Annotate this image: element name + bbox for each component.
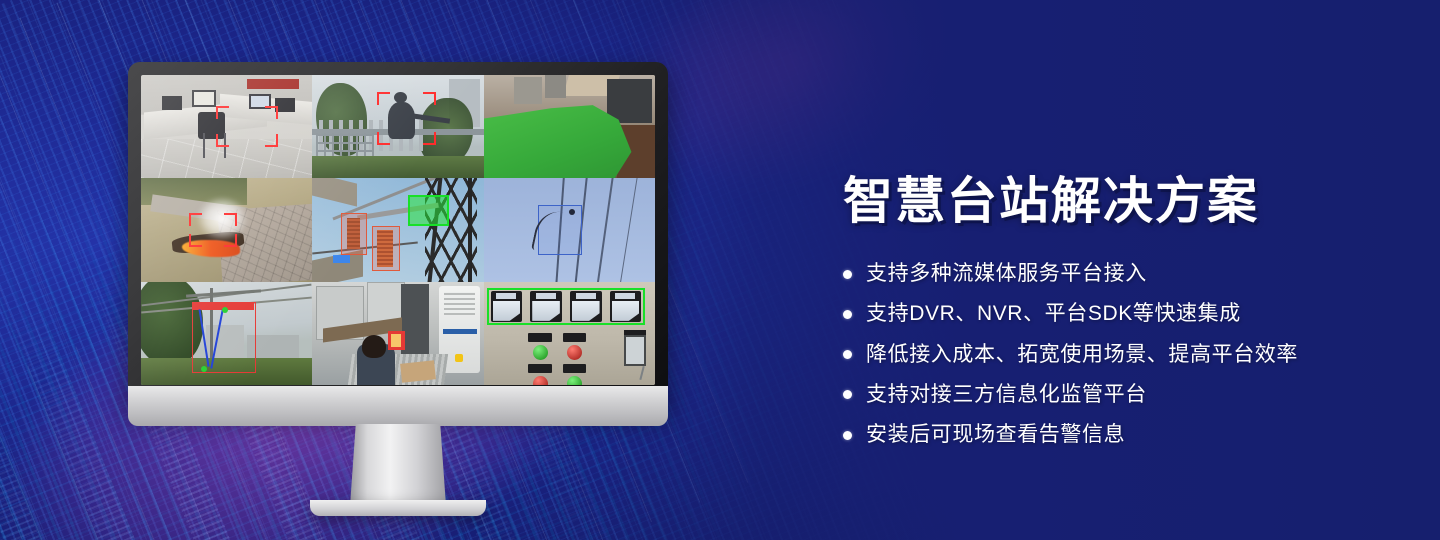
ac-vent bbox=[444, 292, 475, 315]
video-wall-grid bbox=[141, 75, 655, 385]
bullet-icon bbox=[843, 270, 852, 279]
smoke-plume bbox=[189, 178, 268, 246]
screen-1 bbox=[162, 96, 183, 110]
wall-banner bbox=[247, 79, 298, 89]
intruder-figure bbox=[388, 102, 415, 139]
tower-leg-1 bbox=[468, 178, 472, 281]
feature-text: 降低接入成本、拓宽使用场景、提高平台效率 bbox=[866, 342, 1298, 368]
feature-text: 支持对接三方信息化监管平台 bbox=[866, 382, 1147, 408]
video-cell-overhead-lines[interactable] bbox=[484, 178, 655, 281]
feature-text: 支持DVR、NVR、平台SDK等快速集成 bbox=[866, 301, 1241, 327]
feature-list: 支持多种流媒体服务平台接入 支持DVR、NVR、平台SDK等快速集成 降低接入成… bbox=[843, 261, 1383, 448]
panel-meter bbox=[570, 291, 602, 322]
concrete-block-2 bbox=[545, 75, 566, 98]
page-title: 智慧台站解决方案 bbox=[843, 174, 1383, 228]
indicator-green-1 bbox=[528, 333, 552, 360]
screen-3 bbox=[249, 94, 271, 109]
fire-extinguisher bbox=[391, 334, 401, 346]
bullet-icon bbox=[843, 390, 852, 399]
monitor-chin bbox=[128, 386, 668, 426]
monitor-stand-base bbox=[310, 500, 486, 516]
yellow-marker bbox=[455, 354, 464, 362]
meter-row bbox=[491, 291, 642, 322]
indicator-red-1 bbox=[563, 333, 587, 360]
list-item: 降低接入成本、拓宽使用场景、提高平台效率 bbox=[843, 342, 1383, 368]
monitor-illustration bbox=[128, 62, 668, 412]
bullet-icon bbox=[843, 310, 852, 319]
video-cell-green-area[interactable] bbox=[484, 75, 655, 178]
video-cell-equipment-room[interactable] bbox=[312, 282, 483, 385]
bullet-icon bbox=[843, 350, 852, 359]
list-item: 安装后可现场查看告警信息 bbox=[843, 422, 1383, 448]
list-item: 支持对接三方信息化监管平台 bbox=[843, 382, 1383, 408]
indicator-green-2 bbox=[563, 364, 587, 385]
video-cell-control-panel[interactable] bbox=[484, 282, 655, 385]
list-item: 支持多种流媒体服务平台接入 bbox=[843, 261, 1383, 287]
chair-legs bbox=[203, 133, 226, 158]
insulator-2 bbox=[377, 230, 392, 267]
screen-4 bbox=[275, 98, 296, 112]
banner-stage: 智慧台站解决方案 支持多种流媒体服务平台接入 支持DVR、NVR、平台SDK等快… bbox=[0, 0, 1440, 540]
blue-marker bbox=[333, 255, 350, 263]
screen-2 bbox=[192, 90, 216, 107]
monitor-screen bbox=[141, 75, 655, 385]
server-cabinet bbox=[401, 284, 428, 354]
video-cell-field-fire[interactable] bbox=[141, 178, 312, 281]
panel-switch bbox=[624, 335, 646, 366]
video-cell-transmission-tower[interactable] bbox=[312, 178, 483, 281]
bullet-icon bbox=[843, 431, 852, 440]
concrete-block-1 bbox=[514, 77, 541, 104]
indicator-group bbox=[528, 333, 586, 378]
insulator-1 bbox=[347, 218, 361, 249]
grass bbox=[312, 156, 483, 179]
panel-meter bbox=[491, 291, 523, 322]
feature-text: 支持多种流媒体服务平台接入 bbox=[866, 261, 1147, 287]
worker-head bbox=[362, 335, 386, 358]
shed bbox=[607, 79, 652, 122]
content-panel: 智慧台站解决方案 支持多种流媒体服务平台接入 支持DVR、NVR、平台SDK等快… bbox=[843, 140, 1383, 464]
feature-text: 安装后可现场查看告警信息 bbox=[866, 422, 1125, 448]
video-cell-control-room[interactable] bbox=[141, 75, 312, 178]
ac-accent-stripe bbox=[443, 329, 477, 334]
panel-meter bbox=[610, 291, 642, 322]
video-cell-fence-intrusion[interactable] bbox=[312, 75, 483, 178]
video-cell-utility-pole[interactable] bbox=[141, 282, 312, 385]
tiled-floor bbox=[141, 139, 312, 178]
list-item: 支持DVR、NVR、平台SDK等快速集成 bbox=[843, 301, 1383, 327]
indicator-red-2 bbox=[528, 364, 552, 385]
monitor-stand-neck bbox=[350, 424, 446, 506]
green-detection-region bbox=[408, 195, 450, 226]
panel-meter bbox=[530, 291, 562, 322]
